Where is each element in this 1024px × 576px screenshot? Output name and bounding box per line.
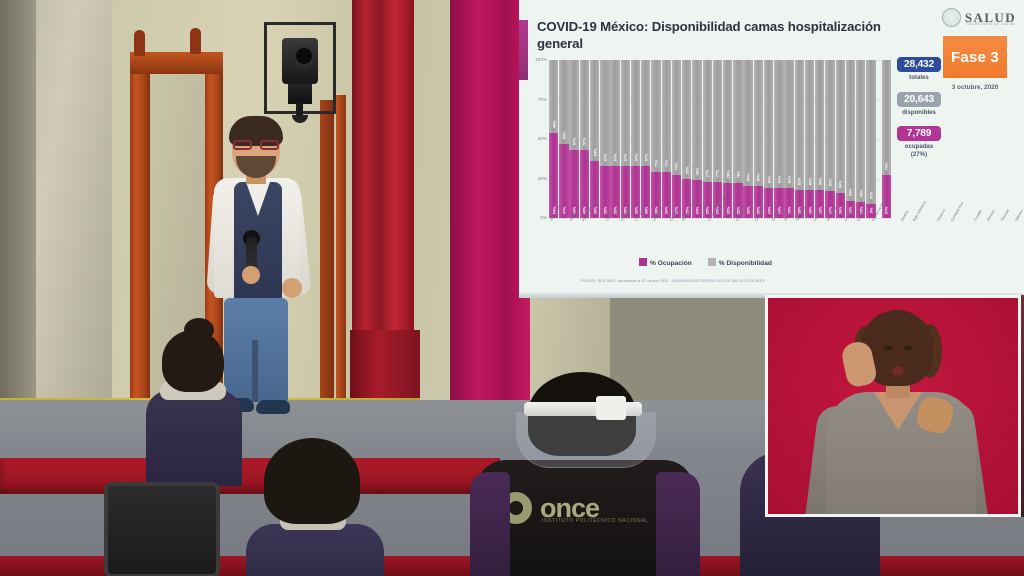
bar-label-ocupacion: 18% (807, 207, 812, 215)
legend-label-ocupacion: % Ocupación (650, 260, 692, 267)
chart-bar: 89%11% (846, 60, 855, 218)
bar-segment-disponibilidad: 82% (815, 60, 824, 190)
stat-ocupadas: 7,789 ocupadas (27%) (897, 126, 941, 158)
bar-segment-disponibilidad: 78% (723, 60, 732, 183)
bar-segment-disponibilidad: 53% (559, 60, 568, 144)
bar-label-disponibilidad: 91% (868, 192, 873, 200)
presenter-shoe-right (256, 400, 290, 414)
wall-pillar (0, 0, 36, 430)
chart-bar: 78%22% (733, 60, 742, 218)
chart-bar: 67%33% (610, 60, 619, 218)
chart-bar: 64%36% (590, 60, 599, 218)
bar-segment-ocupacion: 33% (600, 166, 609, 218)
bar-segment-disponibilidad: 67% (641, 60, 650, 166)
bar-segment-disponibilidad: 80% (743, 60, 752, 186)
interpreter-eye-left (884, 346, 892, 350)
bar-segment-disponibilidad: 67% (600, 60, 609, 166)
once-logo-subtitle: INSTITUTO POLITÉCNICO NACIONAL (542, 518, 649, 524)
bar-label-disponibilidad: 81% (787, 176, 792, 184)
chart-bar: 80%20% (743, 60, 752, 218)
chart-bar: 77%23% (713, 60, 722, 218)
chart-bar: 81%19% (784, 60, 793, 218)
camera-lens-icon (296, 48, 312, 64)
bar-segment-disponibilidad: 91% (866, 60, 875, 204)
audience-2-body (246, 524, 384, 576)
bar-segment-ocupacion: 43% (569, 150, 578, 218)
chart-bar: 46%54% (549, 60, 558, 218)
x-axis-tick: Morelos (986, 209, 996, 222)
bar-segment-disponibilidad: 73% (672, 60, 681, 175)
chart-bar: 67%33% (631, 60, 640, 218)
bar-segment-disponibilidad: 46% (549, 60, 558, 133)
presentation-slide: COVID-19 México: Disponibilidad camas ho… (519, 0, 1024, 296)
bar-segment-ocupacion: 16% (836, 193, 845, 218)
bar-label-ocupacion: 33% (602, 207, 607, 215)
legend-item-disponibilidad: % Disponibilidad (708, 258, 772, 267)
bar-segment-disponibilidad: 89% (846, 60, 855, 201)
bar-label-disponibilidad: 75% (684, 166, 689, 174)
chart-bar: 73%27% (672, 60, 681, 218)
bar-label-ocupacion: 19% (766, 207, 771, 215)
bar-label-disponibilidad: 77% (715, 169, 720, 177)
bar-segment-disponibilidad: 67% (631, 60, 640, 166)
chart-bar: 71%29% (651, 60, 660, 218)
gridline (549, 218, 891, 219)
bar-label-ocupacion: 23% (705, 207, 710, 215)
door-finial-right (190, 28, 201, 54)
chart-source-note: FUENTE: RED IRAG, actualizada al 02 octu… (581, 279, 765, 283)
bar-segment-disponibilidad: 77% (703, 60, 712, 182)
x-axis-tick: Sinaloa (900, 210, 909, 222)
audience-member-3-camera-operator: once INSTITUTO POLITÉCNICO NACIONAL (470, 368, 700, 576)
bar-label-ocupacion: 9% (868, 208, 873, 213)
bar-segment-ocupacion: 20% (743, 186, 752, 218)
bar-label-disponibilidad: 73% (884, 163, 889, 171)
bar-label-ocupacion: 16% (838, 207, 843, 215)
bar-segment-disponibilidad: 80% (754, 60, 763, 186)
bar-label-disponibilidad: 71% (654, 160, 659, 168)
bar-label-disponibilidad: 53% (561, 131, 566, 139)
audience-3-shoulder-right (656, 472, 700, 576)
chart-legend: % Ocupación % Disponibilidad (639, 258, 772, 267)
bar-segment-disponibilidad: 78% (733, 60, 742, 183)
bar-segment-disponibilidad: 71% (651, 60, 660, 172)
face-shield-icon (516, 412, 656, 468)
bar-label-ocupacion: 24% (694, 207, 699, 215)
audience-member-2 (228, 438, 398, 576)
phase-badge: Fase 3 (943, 36, 1007, 78)
y-axis-tick: 75% (523, 97, 547, 102)
x-axis-tick: Veracruz (936, 208, 946, 222)
bar-label-ocupacion: 22% (725, 207, 730, 215)
bar-label-disponibilidad: 67% (633, 154, 638, 162)
chart-bar: 67%33% (641, 60, 650, 218)
salud-seal-icon (942, 8, 961, 27)
bar-segment-disponibilidad: 81% (764, 60, 773, 188)
stat-ocupadas-caption: ocupadas (897, 143, 941, 150)
bar-label-ocupacion: 36% (592, 207, 597, 215)
chart-bar: 81%19% (774, 60, 783, 218)
chart-bar: 67%33% (621, 60, 630, 218)
bar-segment-disponibilidad: 67% (610, 60, 619, 166)
bar-segment-ocupacion: 29% (662, 172, 671, 218)
bar-label-disponibilidad: 57% (572, 138, 577, 146)
glasses-icon (232, 140, 280, 150)
face-shield-clip (596, 396, 626, 420)
chart-x-axis-labels: Nuevo LeónNayaritAguascalientesDurangoCo… (549, 220, 891, 224)
legend-swatch-ocupacion (639, 258, 647, 266)
bar-label-disponibilidad: 78% (735, 171, 740, 179)
chart-plot-area: 0%25%50%75%100% 46%54%53%47%57%43%57%43%… (549, 60, 891, 232)
bar-label-disponibilidad: 77% (705, 169, 710, 177)
bar-label-disponibilidad: 90% (858, 190, 863, 198)
chart-bar: 67%33% (600, 60, 609, 218)
stat-disponibles: 20,643 disponibles (897, 92, 941, 116)
empty-chair (104, 482, 220, 576)
door-frame-far-left (320, 100, 334, 412)
chart-bar: 57%43% (569, 60, 578, 218)
chart-bar: 76%24% (692, 60, 701, 218)
bar-label-disponibilidad: 82% (797, 177, 802, 185)
chart-bar: 77%23% (703, 60, 712, 218)
bar-label-disponibilidad: 89% (848, 188, 853, 196)
stat-ocupadas-percent: (27%) (897, 151, 941, 158)
legend-swatch-disponibilidad (708, 258, 716, 266)
bar-label-disponibilidad: 67% (602, 154, 607, 162)
chart-bar: 83%17% (825, 60, 834, 218)
chart-bar: 53%47% (559, 60, 568, 218)
bar-label-ocupacion: 27% (884, 207, 889, 215)
bar-label-disponibilidad: 73% (674, 163, 679, 171)
bar-segment-disponibilidad: 64% (590, 60, 599, 161)
chart-bar: 91%9% (866, 60, 875, 218)
bar-label-disponibilidad: 46% (551, 120, 556, 128)
x-axis-tick: Tabasco (1014, 209, 1024, 222)
chart-bar: 81%19% (764, 60, 773, 218)
stat-ocupadas-value: 7,789 (897, 126, 941, 141)
bar-segment-disponibilidad: 57% (569, 60, 578, 150)
stat-totales-value: 28,432 (897, 57, 941, 72)
bar-segment-disponibilidad: 82% (805, 60, 814, 190)
bar-segment-ocupacion: 18% (805, 190, 814, 218)
bar-segment-disponibilidad: 84% (836, 60, 845, 193)
x-axis-tick: Yucatán (973, 209, 983, 222)
bar-segment-disponibilidad: 73% (882, 60, 891, 175)
bar-segment-disponibilidad: 67% (621, 60, 630, 166)
legend-item-ocupacion: % Ocupación (639, 258, 692, 267)
audience-3-shoulder-left (470, 472, 510, 576)
bar-label-disponibilidad: 80% (746, 174, 751, 182)
audience-2-hair (264, 438, 360, 524)
bar-label-disponibilidad: 82% (807, 177, 812, 185)
chart-bar: 57%43% (580, 60, 589, 218)
chart-bar: 80%20% (754, 60, 763, 218)
stat-totales: 28,432 totales (897, 57, 941, 81)
broadcast-frame: once INSTITUTO POLITÉCNICO NACIONAL COVI… (0, 0, 1024, 576)
bar-label-disponibilidad: 84% (838, 180, 843, 188)
chart-bar: 82%18% (795, 60, 804, 218)
slide-accent-bar (519, 20, 528, 80)
bar-segment-disponibilidad: 76% (692, 60, 701, 180)
chart-bar: 84%16% (836, 60, 845, 218)
bar-label-disponibilidad: 76% (694, 168, 699, 176)
bar-segment-disponibilidad: 83% (825, 60, 834, 191)
bar-label-disponibilidad: 83% (828, 179, 833, 187)
bar-label-disponibilidad: 78% (725, 171, 730, 179)
interpreter-eye-right (904, 346, 912, 350)
chart-bar: 82%18% (815, 60, 824, 218)
bar-segment-ocupacion: 19% (764, 188, 773, 218)
salud-logo-subtitle: SECRETARÍA DE SALUD (966, 22, 1015, 26)
bar-segment-disponibilidad: 82% (795, 60, 804, 190)
camera-base (288, 84, 312, 104)
x-axis-tick: Quintana Roo (950, 201, 964, 222)
stat-disponibles-caption: disponibles (897, 109, 941, 116)
stat-disponibles-value: 20,643 (897, 92, 941, 107)
door-finial-left (134, 30, 145, 56)
bar-segment-ocupacion: 22% (723, 183, 732, 218)
chart-bar: 75%25% (682, 60, 691, 218)
chart-bars: 46%54%53%47%57%43%57%43%64%36%67%33%67%3… (549, 60, 891, 218)
chart-bar: 90%10% (856, 60, 865, 218)
chart-bar: 73%27% (882, 60, 891, 218)
bar-label-disponibilidad: 81% (776, 176, 781, 184)
chart-bar: 82%18% (805, 60, 814, 218)
legend-label-disponibilidad: % Disponibilidad (719, 260, 772, 267)
y-axis-tick: 100% (523, 57, 547, 62)
audience-1-hair-bun (184, 318, 214, 342)
bar-segment-disponibilidad: 81% (784, 60, 793, 188)
chart-bar: 71%29% (662, 60, 671, 218)
bar-label-disponibilidad: 81% (766, 176, 771, 184)
presenter-hand-left (242, 266, 260, 284)
bar-label-disponibilidad: 67% (613, 154, 618, 162)
bar-segment-disponibilidad: 57% (580, 60, 589, 150)
bar-label-disponibilidad: 80% (756, 174, 761, 182)
bar-label-disponibilidad: 67% (643, 154, 648, 162)
slide-title: COVID-19 México: Disponibilidad camas ho… (537, 18, 887, 53)
y-axis-tick: 0% (523, 215, 547, 220)
bar-segment-disponibilidad: 77% (713, 60, 722, 182)
sign-language-inset (765, 295, 1021, 517)
door-frame-far-right (336, 95, 346, 415)
bar-label-disponibilidad: 64% (592, 149, 597, 157)
bar-segment-disponibilidad: 75% (682, 60, 691, 179)
phase-date: 3 octubre, 2020 (943, 84, 1007, 91)
bar-label-ocupacion: 29% (664, 207, 669, 215)
y-axis-tick: 50% (523, 136, 547, 141)
presenter-beard (236, 156, 276, 178)
x-axis-tick: Baja California (912, 200, 927, 222)
y-axis-tick: 25% (523, 176, 547, 181)
bar-segment-disponibilidad: 81% (774, 60, 783, 188)
stat-totales-caption: totales (897, 74, 941, 81)
bar-label-disponibilidad: 67% (623, 154, 628, 162)
presenter-hand-right (282, 278, 302, 298)
bar-label-disponibilidad: 82% (817, 177, 822, 185)
x-axis-tick: Tlaxcala (1000, 209, 1010, 222)
bar-segment-disponibilidad: 71% (662, 60, 671, 172)
chart-bar: 78%22% (723, 60, 732, 218)
bar-label-disponibilidad: 57% (582, 138, 587, 146)
bar-label-ocupacion: 47% (561, 207, 566, 215)
bar-label-disponibilidad: 71% (664, 160, 669, 168)
interpreter-mouth (892, 366, 904, 376)
bar-segment-disponibilidad: 90% (856, 60, 865, 202)
